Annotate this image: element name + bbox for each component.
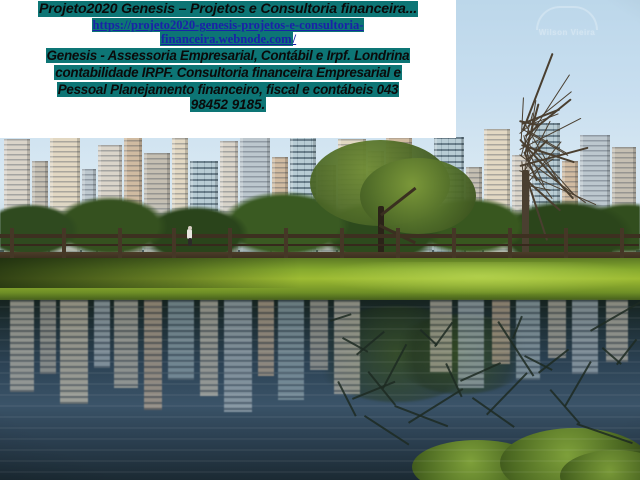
overlay-title: Projeto2020 Genesis – Projetos e Consult…	[38, 1, 418, 17]
website-link-part2[interactable]: financeira.webnode.com	[160, 32, 293, 46]
reflected-tower	[10, 300, 34, 392]
railing-post	[452, 228, 456, 262]
water-ripple	[0, 438, 640, 440]
text-overlay-card: Projeto2020 Genesis – Projetos e Consult…	[0, 0, 456, 138]
railing-post	[118, 228, 122, 262]
reflected-tower	[310, 300, 328, 370]
reflected-branch	[364, 415, 409, 445]
overlay-body-text-1: Genesis - Assessoria Empresarial, Contáb…	[46, 48, 411, 63]
water-ripple	[0, 449, 640, 451]
overlay-title-line: Projeto2020 Genesis – Projetos e Consult…	[0, 0, 456, 16]
overlay-body-text-2: contabilidade IRPF. Consultoria financei…	[54, 65, 401, 80]
water-ripple	[0, 416, 640, 418]
reflected-tower	[94, 300, 110, 368]
railing-post	[508, 228, 512, 262]
overlay-body-text-3: Pessoal Planejamento financeiro, fiscal …	[57, 82, 400, 97]
railing-post	[62, 228, 66, 262]
water-ripple	[0, 372, 640, 374]
water-ripple	[0, 339, 640, 341]
water-ripple	[0, 350, 640, 352]
water-ripple	[0, 306, 640, 308]
overlay-body-line-1: Genesis - Assessoria Empresarial, Contáb…	[0, 46, 456, 63]
railing-post	[10, 228, 14, 262]
railing-post	[340, 228, 344, 262]
overlay-phone-line: 98452 9185.	[0, 96, 456, 112]
water-ripple	[0, 405, 640, 407]
water-ripple	[0, 317, 640, 319]
grass-highlight	[300, 262, 640, 296]
water-ripple	[0, 460, 640, 462]
lake-water	[0, 300, 640, 480]
railing-post	[172, 228, 176, 262]
water-ripple	[0, 471, 640, 473]
water-ripple	[0, 383, 640, 385]
reflected-tower	[60, 300, 88, 404]
reflected-tower	[200, 300, 218, 396]
pedestrian	[186, 226, 194, 246]
water-ripple	[0, 394, 640, 396]
water-ripple	[0, 328, 640, 330]
website-link-slash[interactable]: /	[293, 32, 297, 46]
railing-post	[284, 228, 288, 262]
water-ripple	[0, 427, 640, 429]
overlay-body-line-3: Pessoal Planejamento financeiro, fiscal …	[0, 80, 456, 97]
overlay-url-line-2[interactable]: financeira.webnode.com/	[0, 32, 456, 46]
railing-post	[396, 228, 400, 262]
railing-post	[564, 228, 568, 262]
water-ripple	[0, 361, 640, 363]
pedestrian-legs	[188, 238, 192, 246]
grass-shadow	[0, 258, 300, 288]
overlay-body-line-2: contabilidade IRPF. Consultoria financei…	[0, 63, 456, 80]
reflected-tower	[258, 300, 274, 376]
screenshot-root: Wilson Vieira Projeto2020 Genesis – Proj…	[0, 0, 640, 480]
pedestrian-head	[188, 226, 192, 230]
boardwalk-railing	[0, 234, 640, 238]
overlay-url-line-1[interactable]: https://projeto2020-genesis-projetos-e-c…	[0, 16, 456, 32]
reflected-tower	[492, 300, 510, 364]
website-link-part1[interactable]: https://projeto2020-genesis-projetos-e-c…	[92, 18, 365, 32]
overlay-phone-number: 98452 9185.	[190, 97, 266, 112]
railing-post	[228, 228, 232, 262]
reflected-branch	[472, 397, 515, 428]
railing-post	[620, 228, 624, 262]
reflected-tower	[114, 300, 138, 388]
